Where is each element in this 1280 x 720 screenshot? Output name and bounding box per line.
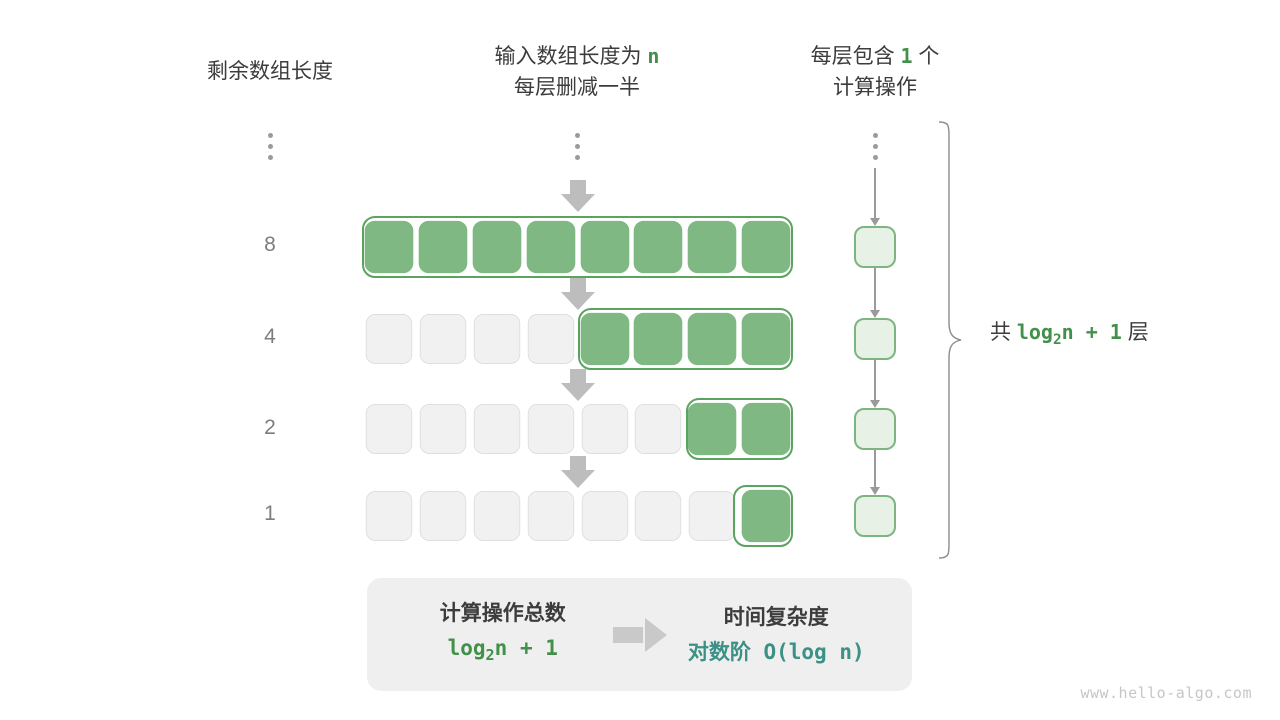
summary-left-value-tail: n + 1: [495, 636, 558, 660]
header-operations-line2: 计算操作: [760, 72, 990, 103]
ellipsis-dot: [873, 133, 878, 138]
arrow-line: [874, 450, 876, 487]
array-cell-empty: [366, 314, 412, 364]
array-row-8: [362, 218, 793, 276]
arrow-line: [874, 268, 876, 310]
array-cell-empty: [474, 314, 520, 364]
array-cell-filled: [688, 221, 737, 273]
operation-arrow-1: [869, 268, 881, 318]
summary-left-value-base: 2: [486, 646, 495, 664]
array-cell-empty: [366, 491, 412, 541]
header-input-array: 输入数组长度为 n 每层删减一半: [452, 41, 702, 103]
operation-box-row-4: [854, 318, 896, 360]
layers-brace: [935, 120, 965, 560]
summary-left: 计算操作总数 log2n + 1: [393, 597, 613, 672]
array-cell-filled: [419, 221, 468, 273]
formula-tail: n + 1: [1062, 320, 1122, 344]
operation-box-row-1: [854, 495, 896, 537]
halving-arrow-4: [561, 456, 595, 488]
array-cell-filled: [580, 221, 629, 273]
arrow-tip: [870, 400, 880, 408]
arrow-shaft: [570, 369, 586, 384]
header-input-array-variable: n: [647, 44, 659, 68]
row-label-ellipsis: [265, 133, 275, 160]
array-row-2: [362, 400, 793, 458]
ellipsis-dot: [575, 155, 580, 160]
header-operations: 每层包含 1 个 计算操作: [760, 41, 990, 103]
ellipsis-dot: [873, 144, 878, 149]
arrow-shaft: [613, 627, 643, 643]
row-label-2: 2: [240, 416, 300, 440]
array-cell-filled: [742, 490, 791, 542]
arrow-tip: [870, 218, 880, 226]
ellipsis-dot: [575, 144, 580, 149]
header-remaining-length: 剩余数组长度: [160, 56, 380, 87]
array-cell-empty: [366, 404, 412, 454]
array-cell-filled: [688, 313, 737, 365]
operation-box-row-2: [854, 408, 896, 450]
array-cell-filled: [688, 403, 737, 455]
layers-annotation-suffix: 层: [1122, 321, 1149, 344]
arrow-shaft: [570, 180, 586, 195]
arrow-shaft: [570, 278, 586, 293]
summary-left-title: 计算操作总数: [393, 597, 613, 631]
diagram-canvas: 剩余数组长度 输入数组长度为 n 每层删减一半 每层包含 1 个 计算操作 8 …: [0, 0, 1280, 720]
arrow-tip: [870, 310, 880, 318]
array-cell-empty: [527, 491, 573, 541]
row-label-8: 8: [240, 233, 300, 257]
layers-annotation-prefix: 共: [990, 321, 1017, 344]
row-label-4: 4: [240, 325, 300, 349]
arrow-head: [561, 470, 595, 488]
ellipsis-dot: [268, 144, 273, 149]
array-cell-empty: [420, 314, 466, 364]
header-operations-line1-pre: 每层包含: [811, 45, 901, 68]
arrow-tip: [870, 487, 880, 495]
arrow-line: [874, 168, 876, 218]
ellipsis-dot: [268, 155, 273, 160]
array-cell-empty: [527, 404, 573, 454]
operation-arrow-0: [869, 168, 881, 226]
layers-annotation-formula: log2n + 1: [1017, 320, 1122, 344]
summary-right-value: 对数阶 O(log n): [667, 635, 887, 669]
array-cell-filled: [580, 313, 629, 365]
brace-icon: [935, 120, 965, 560]
summary-panel: 计算操作总数 log2n + 1 时间复杂度 对数阶 O(log n): [367, 578, 912, 691]
array-cell-filled: [365, 221, 414, 273]
header-operations-line1: 每层包含 1 个: [760, 41, 990, 72]
header-remaining-length-text: 剩余数组长度: [207, 60, 333, 83]
header-operations-count: 1: [900, 44, 912, 68]
array-cell-empty: [581, 491, 627, 541]
array-cell-empty: [420, 491, 466, 541]
array-cell-empty: [635, 404, 681, 454]
array-cell-filled: [634, 313, 683, 365]
array-cell-filled: [742, 221, 791, 273]
header-input-array-line2: 每层删减一半: [452, 72, 702, 103]
array-row-4: [362, 310, 793, 368]
arrow-line: [874, 360, 876, 400]
halving-arrow-1: [561, 180, 595, 212]
array-cell-filled: [526, 221, 575, 273]
summary-left-value: log2n + 1: [393, 631, 613, 672]
arrow-head: [561, 194, 595, 212]
ellipsis-dot: [575, 133, 580, 138]
operation-arrow-3: [869, 450, 881, 495]
array-cell-empty: [420, 404, 466, 454]
arrow-head: [561, 292, 595, 310]
header-operations-line1-post: 个: [913, 45, 940, 68]
halving-arrow-3: [561, 369, 595, 401]
arrow-head: [561, 383, 595, 401]
array-cell-filled: [742, 403, 791, 455]
array-cell-empty: [689, 491, 735, 541]
array-cell-empty: [635, 491, 681, 541]
array-cell-filled: [634, 221, 683, 273]
array-cell-empty: [474, 404, 520, 454]
watermark: www.hello-algo.com: [1080, 684, 1252, 702]
array-row-1: [362, 487, 793, 545]
summary-right: 时间复杂度 对数阶 O(log n): [667, 601, 887, 669]
header-input-array-line1: 输入数组长度为 n: [452, 41, 702, 72]
formula-log: log: [1017, 320, 1053, 344]
operation-box-row-8: [854, 226, 896, 268]
operation-column-ellipsis: [870, 133, 880, 160]
ellipsis-dot: [268, 133, 273, 138]
formula-base: 2: [1053, 332, 1062, 348]
arrow-shaft: [570, 456, 586, 471]
row-label-1: 1: [240, 502, 300, 526]
operation-arrow-2: [869, 360, 881, 408]
array-cell-filled: [742, 313, 791, 365]
arrow-head: [645, 618, 667, 652]
array-cell-empty: [474, 491, 520, 541]
ellipsis-dot: [873, 155, 878, 160]
array-cell-filled: [472, 221, 521, 273]
header-input-array-line1-text: 输入数组长度为: [495, 45, 648, 68]
summary-left-value-log: log: [448, 636, 486, 660]
layers-annotation: 共 log2n + 1 层: [990, 316, 1149, 348]
summary-right-title: 时间复杂度: [667, 601, 887, 635]
array-column-ellipsis: [572, 133, 582, 160]
summary-arrow-right-icon: [613, 618, 667, 652]
halving-arrow-2: [561, 278, 595, 310]
array-cell-empty: [581, 404, 627, 454]
array-cell-empty: [527, 314, 573, 364]
